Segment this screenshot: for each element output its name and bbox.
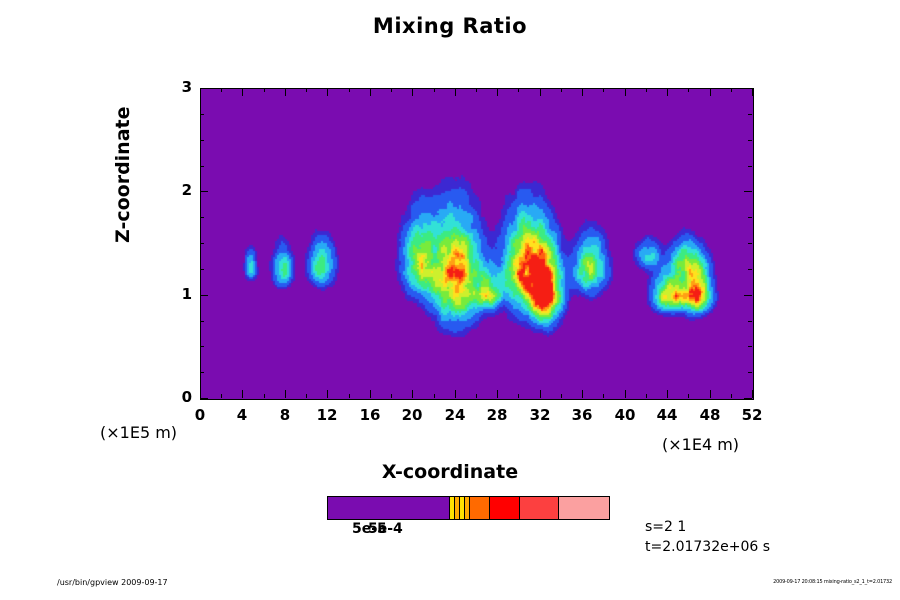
y-tick-minor — [200, 114, 204, 115]
y-axis-label: Z-coordinate — [112, 107, 134, 244]
x-tick-major-top — [455, 88, 456, 96]
x-tick-minor-top — [306, 88, 307, 92]
y-tick-minor — [200, 166, 204, 167]
x-tick-major-top — [200, 88, 201, 96]
y-tick-major-right — [744, 295, 752, 296]
y-tick-minor — [200, 217, 204, 218]
x-tick-major — [242, 390, 243, 398]
x-tick-label: 52 — [732, 406, 772, 424]
x-tick-label: 12 — [307, 406, 347, 424]
y-tick-major-right — [744, 88, 752, 89]
footer-command: /usr/bin/gpview 2009-09-17 — [57, 578, 168, 587]
x-tick-minor-top — [434, 88, 435, 92]
x-tick-major — [625, 390, 626, 398]
y-tick-label: 1 — [162, 285, 192, 303]
x-tick-major — [285, 390, 286, 398]
y-tick-minor-right — [748, 114, 752, 115]
x-tick-major-top — [625, 88, 626, 96]
x-tick-major-top — [285, 88, 286, 96]
x-tick-minor — [476, 394, 477, 398]
colorbar-segment — [559, 497, 609, 519]
y-tick-minor-right — [748, 321, 752, 322]
x-tick-label: 36 — [562, 406, 602, 424]
y-tick-minor-right — [748, 140, 752, 141]
y-tick-major — [200, 398, 208, 399]
y-tick-minor — [200, 269, 204, 270]
x-tick-major — [752, 390, 753, 398]
x-tick-label: 8 — [265, 406, 305, 424]
colorbar-tick-label: 5e-4 — [368, 521, 403, 537]
x-tick-minor — [306, 394, 307, 398]
x-tick-minor — [688, 394, 689, 398]
x-tick-minor-top — [391, 88, 392, 92]
x-tick-minor — [518, 394, 519, 398]
x-tick-minor — [731, 394, 732, 398]
x-tick-major — [667, 390, 668, 398]
x-tick-major-top — [667, 88, 668, 96]
y-tick-minor-right — [748, 372, 752, 373]
x-tick-label: 28 — [477, 406, 517, 424]
x-tick-major-top — [242, 88, 243, 96]
x-tick-major — [327, 390, 328, 398]
y-tick-minor-right — [748, 269, 752, 270]
x-tick-minor-top — [518, 88, 519, 92]
y-tick-minor — [200, 346, 204, 347]
y-tick-major — [200, 191, 208, 192]
x-tick-major — [200, 390, 201, 398]
colorbar-segment — [490, 497, 520, 519]
x-tick-major — [582, 390, 583, 398]
x-tick-minor-top — [476, 88, 477, 92]
y-tick-major-right — [744, 398, 752, 399]
x-tick-major — [370, 390, 371, 398]
x-tick-major-top — [327, 88, 328, 96]
sigma-annotation: s=2 1 — [645, 519, 686, 535]
x-tick-major — [497, 390, 498, 398]
x-tick-minor-top — [603, 88, 604, 92]
x-tick-major-top — [497, 88, 498, 96]
x-tick-minor-top — [264, 88, 265, 92]
x-tick-label: 32 — [520, 406, 560, 424]
y-tick-label: 2 — [162, 181, 192, 199]
time-annotation: t=2.01732e+06 s — [645, 539, 770, 555]
x-tick-label: 0 — [180, 406, 220, 424]
y-tick-minor-right — [748, 217, 752, 218]
x-tick-minor — [561, 394, 562, 398]
colorbar-segment — [470, 497, 490, 519]
x-tick-minor-top — [688, 88, 689, 92]
y-tick-minor-right — [748, 243, 752, 244]
x-tick-minor-top — [221, 88, 222, 92]
y-tick-minor — [200, 140, 204, 141]
colorbar-segment — [520, 497, 559, 519]
x-tick-label: 20 — [392, 406, 432, 424]
x-tick-minor — [221, 394, 222, 398]
mixing-ratio-field — [201, 89, 753, 399]
x-tick-major-top — [540, 88, 541, 96]
x-tick-label: 44 — [647, 406, 687, 424]
x-tick-label: 4 — [222, 406, 262, 424]
x-tick-major — [540, 390, 541, 398]
x-tick-major-top — [370, 88, 371, 96]
z-unit-label: (×1E5 m) — [100, 423, 177, 442]
x-tick-minor-top — [731, 88, 732, 92]
y-tick-major — [200, 88, 208, 89]
x-tick-major-top — [710, 88, 711, 96]
x-tick-minor — [434, 394, 435, 398]
x-tick-major-top — [582, 88, 583, 96]
y-tick-minor — [200, 243, 204, 244]
x-tick-minor — [646, 394, 647, 398]
x-axis-label: X-coordinate — [0, 461, 900, 483]
x-tick-major — [412, 390, 413, 398]
x-tick-major-top — [752, 88, 753, 96]
x-tick-minor-top — [349, 88, 350, 92]
footer-metadata: 2009-09-17 20:08:15 mixing-ratio_s2_1_t=… — [773, 579, 892, 585]
x-tick-minor — [349, 394, 350, 398]
y-tick-minor — [200, 372, 204, 373]
x-tick-minor — [391, 394, 392, 398]
y-tick-minor-right — [748, 346, 752, 347]
y-tick-label: 3 — [162, 78, 192, 96]
x-tick-label: 24 — [435, 406, 475, 424]
colorbar — [327, 496, 610, 520]
y-tick-major — [200, 295, 208, 296]
x-tick-major — [455, 390, 456, 398]
x-tick-label: 40 — [605, 406, 645, 424]
x-tick-major — [710, 390, 711, 398]
y-tick-minor — [200, 321, 204, 322]
y-tick-label: 0 — [162, 388, 192, 406]
x-tick-major-top — [412, 88, 413, 96]
x-tick-minor-top — [561, 88, 562, 92]
x-tick-label: 16 — [350, 406, 390, 424]
plot-frame — [200, 88, 754, 400]
x-unit-label: (×1E4 m) — [662, 435, 739, 454]
page-title: Mixing Ratio — [0, 14, 900, 38]
x-tick-minor — [603, 394, 604, 398]
y-tick-minor-right — [748, 166, 752, 167]
colorbar-segment — [328, 497, 450, 519]
x-tick-label: 48 — [690, 406, 730, 424]
y-tick-major-right — [744, 191, 752, 192]
x-tick-minor-top — [646, 88, 647, 92]
x-tick-minor — [264, 394, 265, 398]
